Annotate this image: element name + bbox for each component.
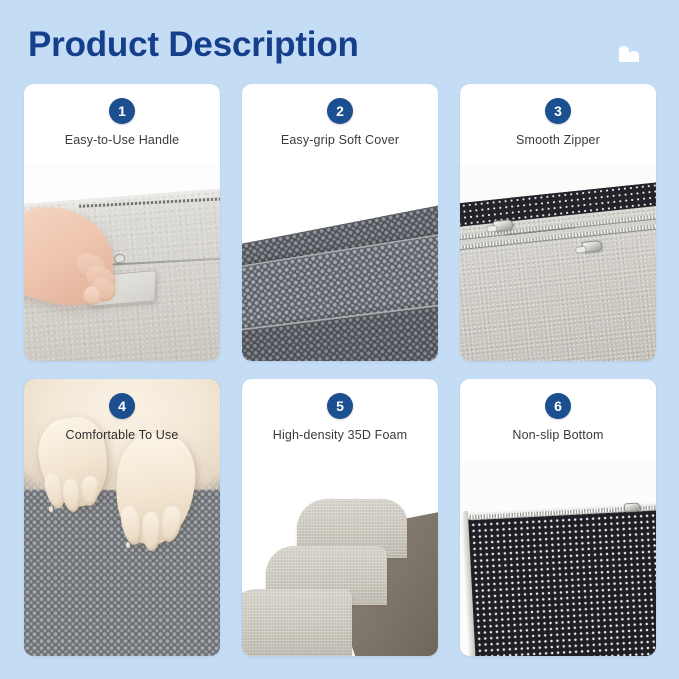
card-header-5: 5 High-density 35D Foam	[242, 379, 438, 442]
feature-card-5[interactable]: 5 High-density 35D Foam	[242, 379, 438, 656]
step-badge-4: 4	[109, 393, 135, 419]
feature-card-grid: 1 Easy-to-Use Handle 2 Easy-grip Soft Co…	[24, 84, 656, 656]
step-badge-6: 6	[545, 393, 571, 419]
gray-chenille-bobble-fabric-photo	[242, 165, 438, 361]
foam-pet-stairs-photo	[242, 460, 438, 656]
card-label-4: Comfortable To Use	[24, 428, 220, 442]
feature-card-1[interactable]: 1 Easy-to-Use Handle	[24, 84, 220, 361]
card-header-4: 4 Comfortable To Use	[24, 379, 220, 442]
card-header-6: 6 Non-slip Bottom	[460, 379, 656, 442]
feature-card-2[interactable]: 2 Easy-grip Soft Cover	[242, 84, 438, 361]
card-label-1: Easy-to-Use Handle	[24, 133, 220, 147]
feature-card-4[interactable]: 4 Comfortable To Use	[24, 379, 220, 656]
card-label-3: Smooth Zipper	[460, 133, 656, 147]
stairs-silhouette-icon	[617, 40, 645, 64]
feature-card-6[interactable]: 6 Non-slip Bottom	[460, 379, 656, 656]
step-badge-1: 1	[109, 98, 135, 124]
black-dotted-nonslip-bottom-photo	[460, 460, 656, 656]
card-label-6: Non-slip Bottom	[460, 428, 656, 442]
step-badge-5: 5	[327, 393, 353, 419]
page-header: Product Description	[0, 0, 679, 82]
card-header-2: 2 Easy-grip Soft Cover	[242, 84, 438, 147]
hand-pulling-handle-photo	[24, 165, 220, 361]
feature-card-3[interactable]: 3 Smooth Zipper	[460, 84, 656, 361]
card-label-2: Easy-grip Soft Cover	[242, 133, 438, 147]
card-header-3: 3 Smooth Zipper	[460, 84, 656, 147]
card-header-1: 1 Easy-to-Use Handle	[24, 84, 220, 147]
dual-slider-zipper-photo	[460, 165, 656, 361]
card-label-5: High-density 35D Foam	[242, 428, 438, 442]
page-title: Product Description	[28, 24, 359, 66]
step-badge-2: 2	[327, 98, 353, 124]
step-badge-3: 3	[545, 98, 571, 124]
